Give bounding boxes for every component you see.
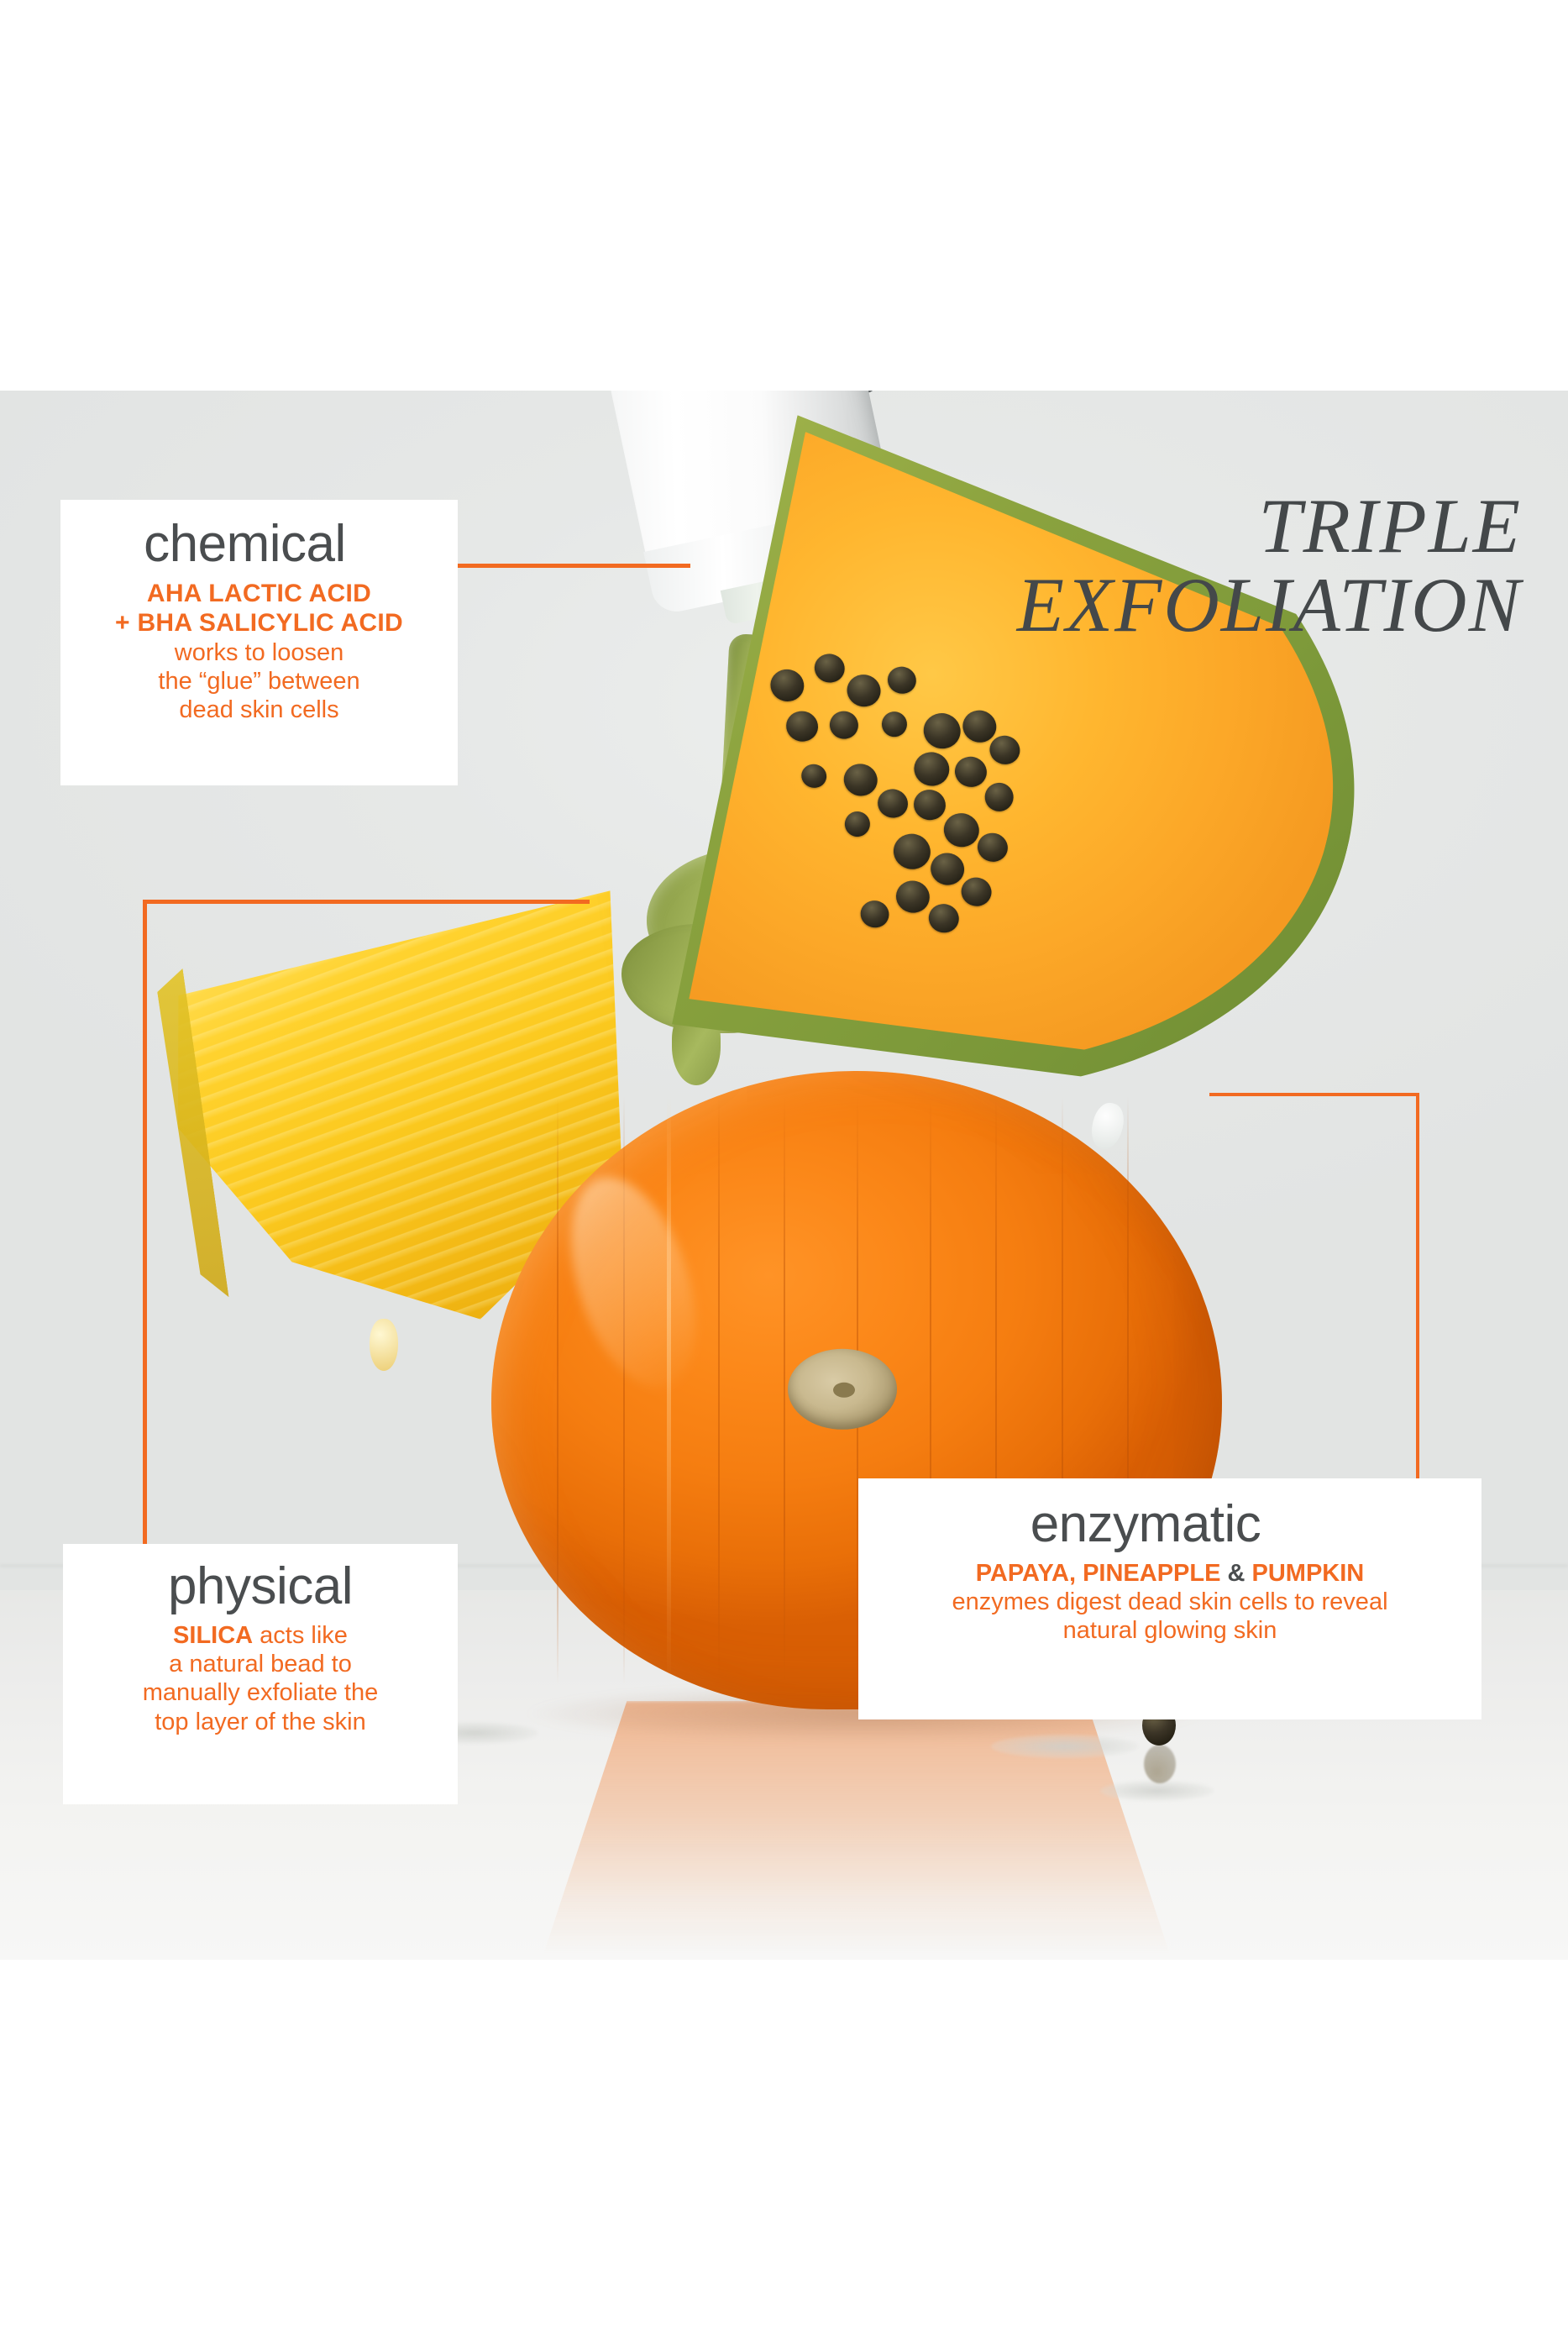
papaya-seed (799, 762, 829, 790)
papaya-seed (842, 809, 873, 839)
pumpkin-rib (718, 1096, 720, 1683)
callout-chemical: chemical AHA LACTIC ACID + BHA SALICYLIC… (60, 500, 458, 785)
callout-enzymatic: enzymatic PAPAYA, PINEAPPLE & PUMPKIN en… (858, 1478, 1481, 1719)
callout-chemical-body: AHA LACTIC ACID + BHA SALICYLIC ACID wor… (72, 579, 446, 724)
papaya-seed (857, 898, 892, 931)
callout-enzymatic-line-2: natural glowing skin (875, 1616, 1465, 1645)
callout-physical-line-1: SILICA acts like (75, 1621, 446, 1650)
stray-papaya-seed-reflection (1144, 1745, 1176, 1783)
callout-physical-line-4: top layer of the skin (75, 1708, 446, 1736)
pumpkin-rib (557, 1096, 559, 1683)
callout-chemical-kicker: chemical (72, 518, 446, 570)
papaya-seed (874, 786, 910, 822)
papaya-seed (783, 708, 821, 745)
papaya-seed (926, 900, 962, 936)
callout-physical-line-3: manually exfoliate the (75, 1678, 446, 1707)
callout-chemical-line-1: AHA LACTIC ACID (72, 579, 446, 608)
papaya-seed (941, 810, 983, 851)
papaya-seed (910, 786, 949, 823)
connector-line-physical-vertical (143, 900, 147, 1563)
silica-ingredient: SILICA (173, 1622, 253, 1649)
papaya-seed (952, 753, 990, 790)
callout-physical-kicker: physical (75, 1561, 446, 1613)
infographic-page: TRIPLE EXFOLIATION chemical AHA LACTIC A… (0, 0, 1568, 2352)
papaya-seed (811, 651, 847, 686)
connector-line-physical-horizontal (143, 900, 590, 904)
callout-enzymatic-ingredients: PAPAYA, PINEAPPLE & PUMPKIN (875, 1559, 1465, 1588)
water-puddle (1100, 1781, 1214, 1801)
pineapple-juice-drip (370, 1319, 398, 1371)
ingredient-group-2: PUMPKIN (1252, 1560, 1365, 1587)
connector-line-enzymatic-top (1209, 1093, 1419, 1096)
callout-physical-body: SILICA acts like a natural bead to manua… (75, 1621, 446, 1736)
callout-physical: physical SILICA acts like a natural bead… (63, 1544, 458, 1804)
papaya-seed (910, 748, 952, 790)
callout-chemical-line-5: dead skin cells (72, 696, 446, 724)
papaya-seed (987, 732, 1023, 768)
callout-chemical-line-4: the “glue” between (72, 667, 446, 696)
papaya-seed (893, 877, 933, 916)
papaya-seed (844, 671, 884, 711)
papaya-seed (767, 666, 807, 706)
callout-chemical-line-3: works to loosen (72, 638, 446, 667)
papaya-seed (826, 708, 861, 742)
ingredient-group-1: PAPAYA, PINEAPPLE (976, 1560, 1221, 1587)
callout-enzymatic-kicker: enzymatic (875, 1499, 1465, 1551)
papaya-seed (885, 664, 920, 696)
callout-chemical-line-2: + BHA SALICYLIC ACID (72, 608, 446, 638)
callout-enzymatic-body: PAPAYA, PINEAPPLE & PUMPKIN enzymes dige… (875, 1559, 1465, 1646)
silica-description: acts like (253, 1622, 348, 1649)
papaya-seed (889, 830, 934, 873)
callout-physical-line-2: a natural bead to (75, 1650, 446, 1678)
pumpkin-rib-highlight (667, 1096, 671, 1683)
papaya-seed (927, 849, 968, 889)
ingredient-ampersand: & (1220, 1560, 1251, 1587)
papaya-seed (958, 874, 994, 910)
callout-enzymatic-line-1: enzymes digest dead skin cells to reveal (875, 1588, 1465, 1616)
papaya-seed (974, 830, 1010, 865)
papaya-seed (879, 709, 910, 739)
pumpkin-stem (788, 1348, 897, 1429)
water-puddle (991, 1735, 1138, 1758)
pumpkin-rib (784, 1096, 785, 1683)
papaya-seed (982, 780, 1016, 814)
papaya-seed (841, 760, 881, 800)
papaya-seed (920, 709, 964, 752)
